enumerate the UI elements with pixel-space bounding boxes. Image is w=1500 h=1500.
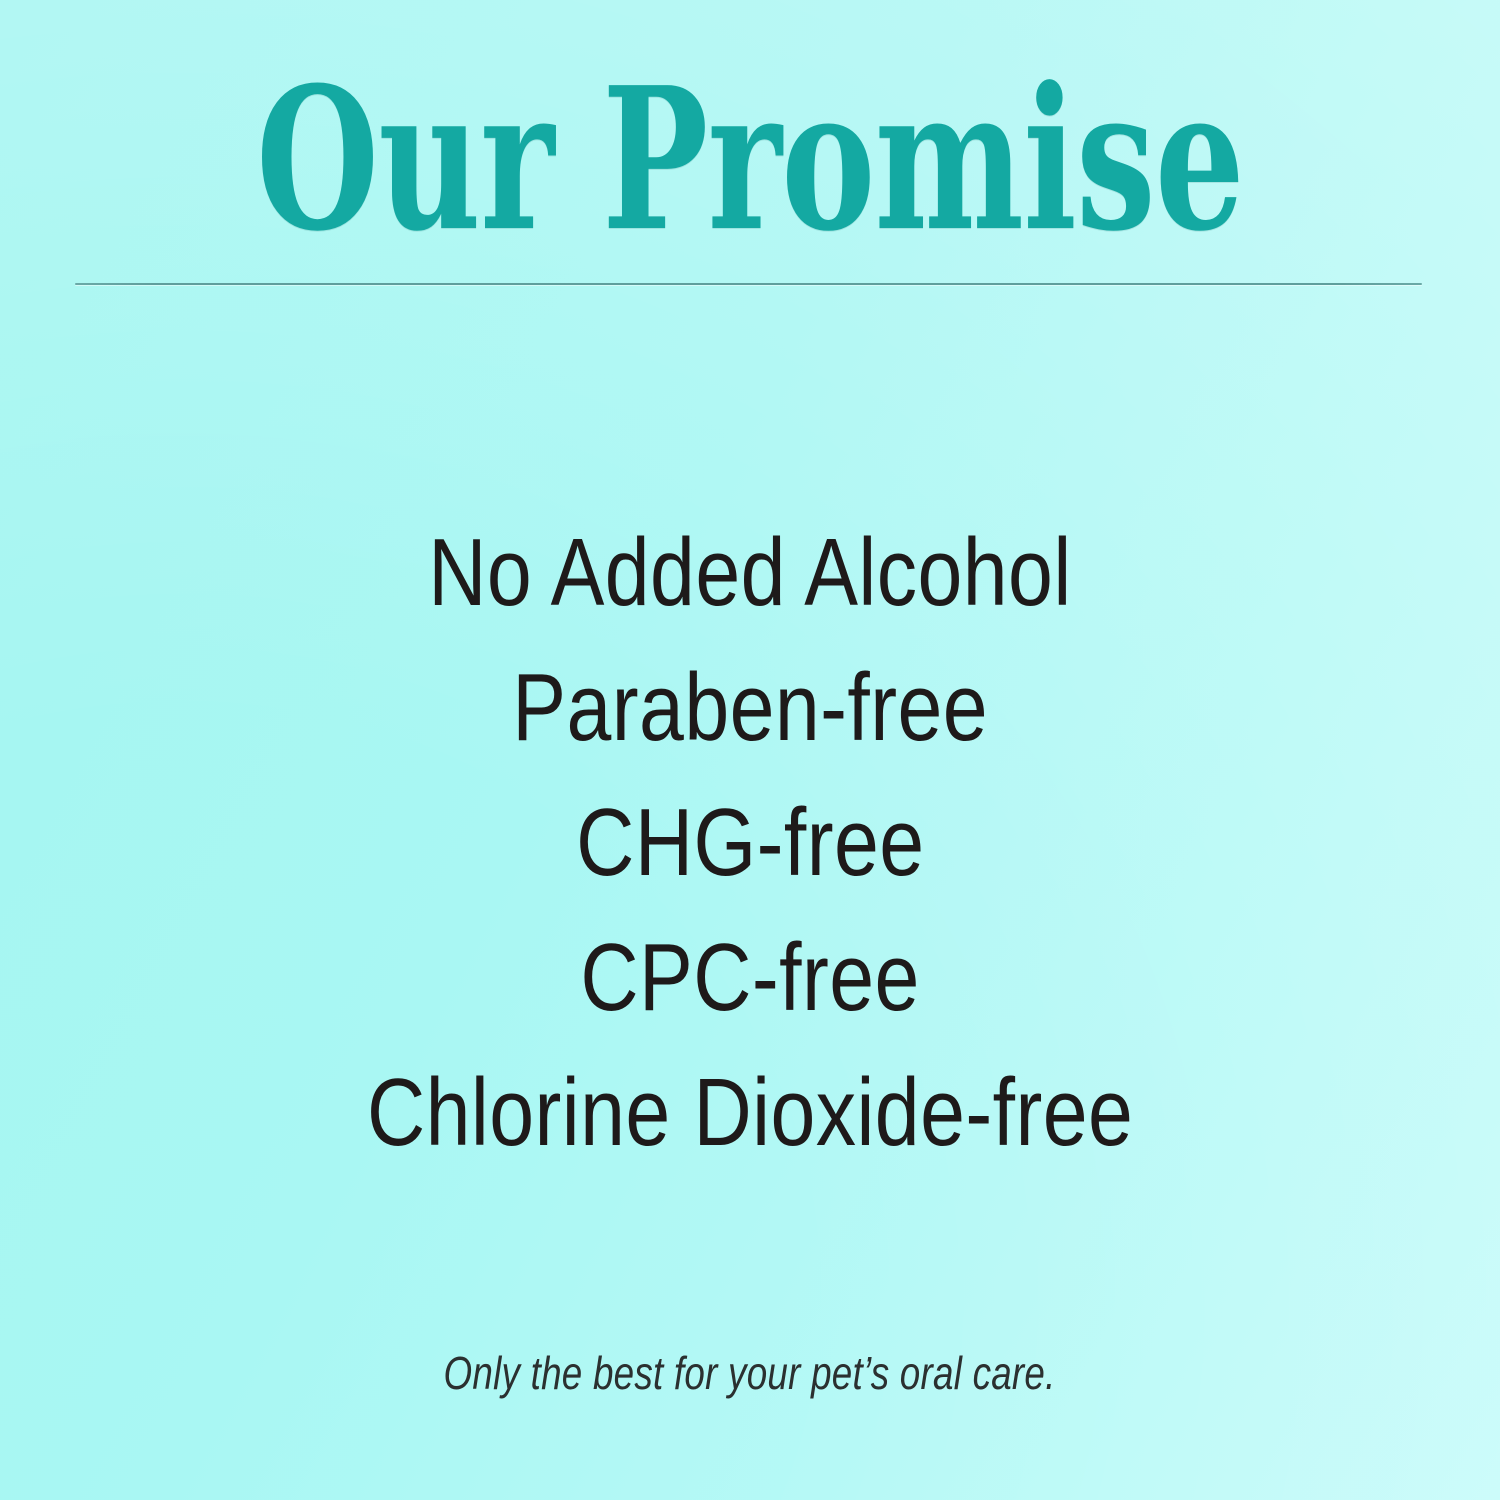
divider-rule <box>75 283 1422 285</box>
promise-label: Chlorine Dioxide-free <box>367 1045 1133 1180</box>
list-item: CPC-free <box>0 910 1500 1045</box>
promise-poster: Our Promise No Added Alcohol Paraben-fre… <box>0 0 1500 1500</box>
title-zone: Our Promise <box>0 62 1500 258</box>
promise-list: No Added Alcohol Paraben-free CHG-free C… <box>0 505 1500 1180</box>
page-title: Our Promise <box>256 62 1244 258</box>
footer-tagline: Only the best for your pet’s oral care. <box>444 1348 1056 1399</box>
promise-label: Paraben-free <box>512 640 988 775</box>
promise-label: CPC-free <box>580 910 919 1045</box>
list-item: Chlorine Dioxide-free <box>0 1045 1500 1180</box>
list-item: Paraben-free <box>0 640 1500 775</box>
tagline-zone: Only the best for your pet’s oral care. <box>0 1348 1500 1399</box>
list-item: CHG-free <box>0 775 1500 910</box>
promise-label: No Added Alcohol <box>428 505 1071 640</box>
list-item: No Added Alcohol <box>0 505 1500 640</box>
header-divider <box>75 283 1422 286</box>
promise-label: CHG-free <box>576 775 924 910</box>
